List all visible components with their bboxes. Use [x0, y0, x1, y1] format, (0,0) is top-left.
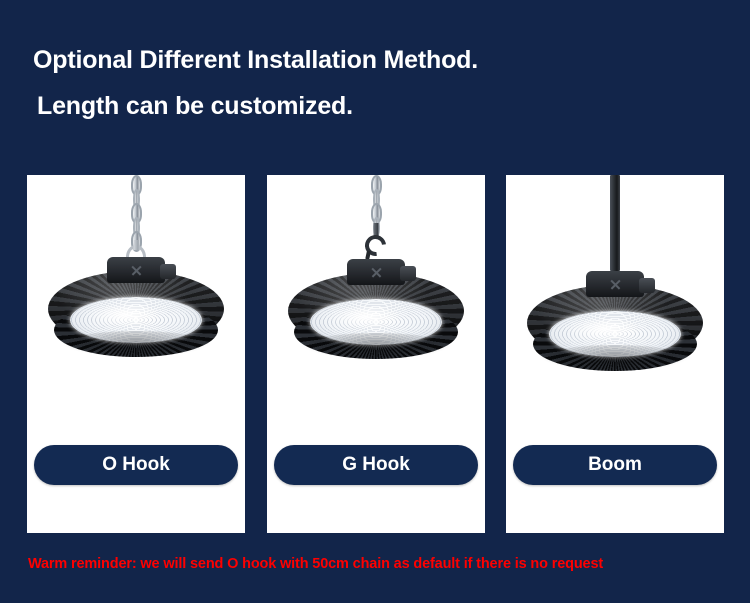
- warm-reminder-note: Warm reminder: we will send O hook with …: [28, 556, 603, 572]
- lens-glow: [567, 317, 641, 341]
- body-shadow: [302, 333, 450, 359]
- body-shadow: [62, 331, 210, 357]
- product-illustration-o-hook: [27, 175, 245, 475]
- product-illustration-boom: [506, 175, 724, 475]
- installation-option-card-boom[interactable]: Boom: [506, 175, 724, 533]
- mounting-bracket-icon: [107, 257, 165, 283]
- option-label-g-hook[interactable]: G Hook: [274, 445, 478, 485]
- installation-option-card-g-hook[interactable]: G Hook: [267, 175, 485, 533]
- body-shadow: [541, 345, 689, 371]
- installation-option-card-o-hook[interactable]: O Hook: [27, 175, 245, 533]
- ufo-high-bay-light-icon: [48, 257, 224, 365]
- lens-glow: [328, 305, 402, 329]
- ufo-high-bay-light-icon: [288, 259, 464, 367]
- option-label-o-hook[interactable]: O Hook: [34, 445, 238, 485]
- lens-glow: [88, 303, 162, 327]
- boom-pole-icon: [610, 175, 620, 271]
- installation-method-banner: { "background_color": "#12254a", "headin…: [0, 0, 750, 603]
- mounting-bracket-icon: [347, 259, 405, 285]
- panel-group: O Hook: [0, 0, 750, 603]
- mounting-bracket-icon: [586, 271, 644, 297]
- product-illustration-g-hook: [267, 175, 485, 475]
- ufo-high-bay-light-icon: [527, 271, 703, 379]
- option-label-boom[interactable]: Boom: [513, 445, 717, 485]
